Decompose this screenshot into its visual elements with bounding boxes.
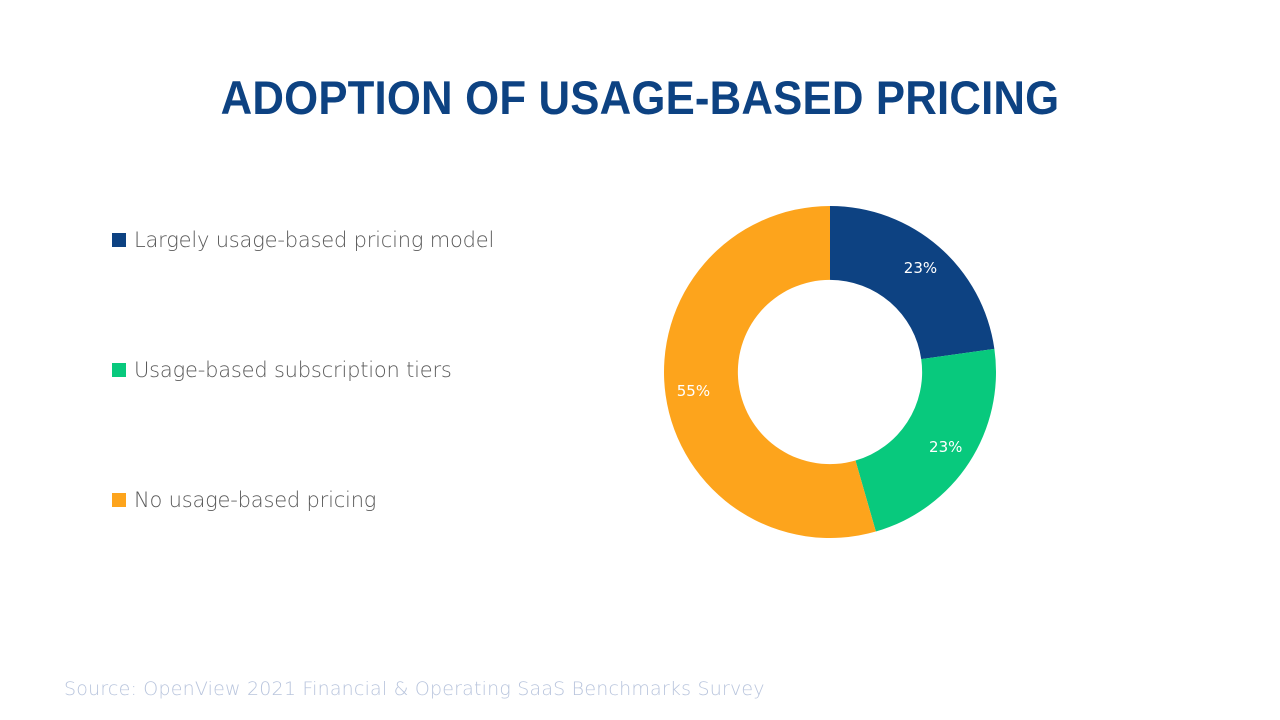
- legend-item-subscription-tiers[interactable]: Usage-based subscription tiers: [112, 348, 582, 392]
- donut-slice-group: [664, 206, 996, 538]
- donut-slice-label: 23%: [904, 259, 937, 277]
- legend-item-label: Largely usage-based pricing model: [134, 228, 494, 252]
- source-note: Source: OpenView 2021 Financial & Operat…: [64, 678, 765, 700]
- legend-swatch-icon: [112, 363, 126, 377]
- donut-slice-label: 23%: [929, 438, 962, 456]
- donut-slice[interactable]: [830, 206, 994, 359]
- page-title: ADOPTION OF USAGE-BASED PRICING: [45, 70, 1235, 125]
- chart-legend: Largely usage-based pricing model Usage-…: [112, 218, 582, 522]
- donut-slice-label: 55%: [677, 382, 710, 400]
- donut-slice[interactable]: [855, 349, 996, 532]
- legend-swatch-icon: [112, 233, 126, 247]
- legend-item-largely-usage-based[interactable]: Largely usage-based pricing model: [112, 218, 582, 262]
- slide-canvas: ADOPTION OF USAGE-BASED PRICING Largely …: [0, 0, 1280, 720]
- legend-swatch-icon: [112, 493, 126, 507]
- legend-item-label: Usage-based subscription tiers: [134, 358, 452, 382]
- donut-chart-svg: 23%23%55%: [664, 206, 996, 538]
- legend-item-label: No usage-based pricing: [134, 488, 376, 512]
- donut-chart: 23%23%55%: [664, 206, 996, 538]
- legend-item-no-usage-based[interactable]: No usage-based pricing: [112, 478, 582, 522]
